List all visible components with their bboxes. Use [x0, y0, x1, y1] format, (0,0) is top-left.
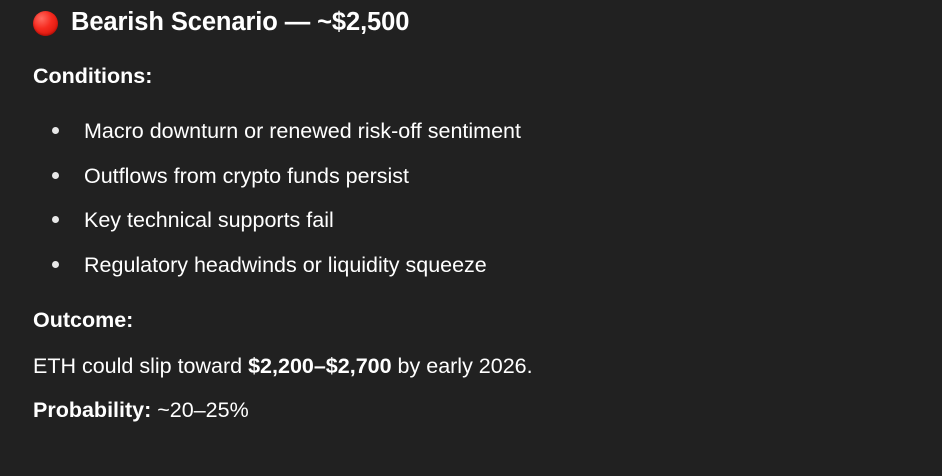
conditions-list: Macro downturn or renewed risk-off senti… [33, 118, 893, 296]
bullet-point-icon [52, 261, 59, 268]
probability-row: Probability: ~20–25% [33, 398, 249, 423]
list-item: Outflows from crypto funds persist [33, 163, 893, 208]
list-item: Regulatory headwinds or liquidity squeez… [33, 252, 893, 297]
scenario-title: Bearish Scenario — ~$2,500 [71, 10, 409, 36]
outcome-text-after: by early 2026. [392, 354, 533, 378]
outcome-heading: Outcome: [33, 310, 133, 332]
outcome-text-before: ETH could slip toward [33, 354, 248, 378]
list-item-label: Macro downturn or renewed risk-off senti… [84, 119, 521, 143]
list-item-label: Regulatory headwinds or liquidity squeez… [84, 253, 487, 277]
outcome-price-range: $2,200–$2,700 [248, 354, 391, 378]
bullet-point-icon [52, 216, 59, 223]
bullet-point-icon [52, 172, 59, 179]
scenario-title-row: Bearish Scenario — ~$2,500 [33, 6, 409, 40]
list-item-label: Outflows from crypto funds persist [84, 164, 409, 188]
list-item-label: Key technical supports fail [84, 208, 334, 232]
probability-value-text: ~20–25% [157, 398, 248, 422]
conditions-heading: Conditions: [33, 66, 152, 88]
list-item: Macro downturn or renewed risk-off senti… [33, 118, 893, 163]
bearish-scenario-card: Bearish Scenario — ~$2,500 Conditions: M… [0, 0, 942, 476]
outcome-text: ETH could slip toward $2,200–$2,700 by e… [33, 354, 533, 379]
bullet-point-icon [52, 127, 59, 134]
probability-label: Probability: [33, 398, 151, 422]
red-circle-icon [33, 11, 58, 36]
list-item: Key technical supports fail [33, 207, 893, 252]
